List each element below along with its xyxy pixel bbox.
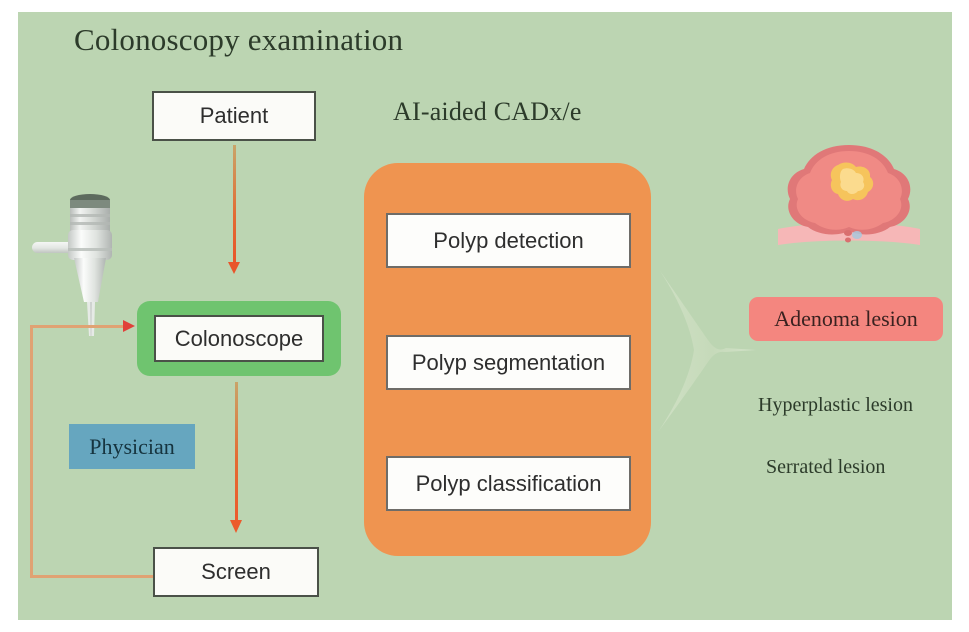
feedback-loop-left-segment	[30, 325, 33, 577]
cadx-module-polyp-detection[interactable]: Polyp detection	[386, 213, 631, 268]
feedback-loop-arrow-icon	[123, 320, 135, 332]
feedback-loop-bottom-segment	[30, 575, 153, 578]
cadx-module-polyp-segmentation[interactable]: Polyp segmentation	[386, 335, 631, 390]
colonoscope-device-icon	[28, 186, 140, 336]
cadx-module-polyp-classification[interactable]: Polyp classification	[386, 456, 631, 511]
outcome-adenoma-lesion[interactable]: Adenoma lesion	[749, 297, 943, 341]
arrow-down-icon	[228, 262, 240, 274]
polyp-tissue-icon	[776, 141, 922, 264]
panel-title-ai-aided-cadx: AI-aided CADx/e	[393, 97, 582, 127]
node-physician[interactable]: Physician	[69, 424, 195, 469]
node-screen[interactable]: Screen	[153, 547, 319, 597]
outcome-hyperplastic-lesion: Hyperplastic lesion	[758, 394, 913, 417]
arrow-colonoscope-to-screen-shaft	[235, 382, 238, 522]
arrow-down-icon	[230, 520, 242, 533]
chevron-right-arrow-icon	[652, 266, 758, 434]
outcome-serrated-lesion: Serrated lesion	[766, 456, 885, 479]
feedback-loop-top-segment	[30, 325, 125, 328]
arrow-patient-to-colonoscope-shaft	[233, 145, 236, 263]
diagram-canvas: Colonoscopy examination AI-aided CADx/e	[0, 0, 969, 632]
panel-title-colonoscopy-examination: Colonoscopy examination	[74, 22, 403, 58]
node-colonoscope[interactable]: Colonoscope	[154, 315, 324, 362]
node-patient[interactable]: Patient	[152, 91, 316, 141]
